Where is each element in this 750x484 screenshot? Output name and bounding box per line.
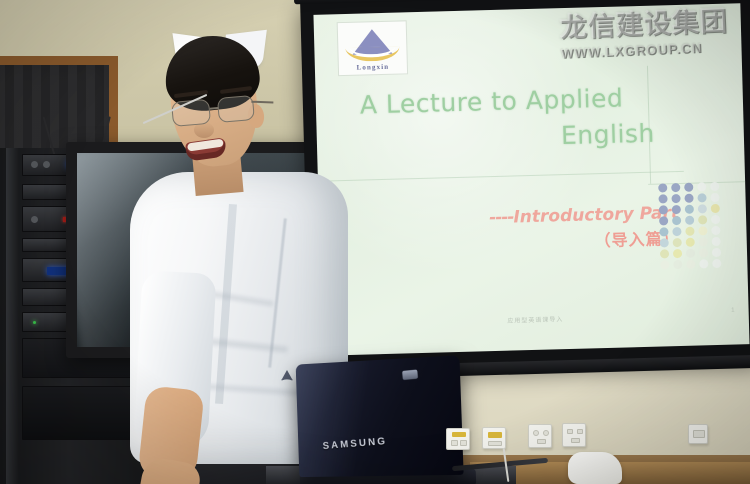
slide-dot: [686, 260, 695, 269]
slide-dot: [659, 216, 668, 225]
tissue-box: [568, 452, 622, 484]
slide-dot: [673, 249, 682, 258]
slide-dot: [658, 183, 667, 192]
slide-dot: [686, 249, 695, 258]
slide-dot: [712, 259, 721, 268]
slide-dot: [673, 238, 682, 247]
slide-dot: [698, 204, 707, 213]
slide-subtitle-line1: Introductory: [513, 204, 634, 227]
laptop-sheen: [296, 355, 420, 477]
slide-dot: [698, 215, 707, 224]
glasses-lens-right: [217, 95, 255, 123]
slide-dot: [710, 193, 719, 202]
photo-scene: Longxin A Lecture to Applied English ---…: [0, 0, 750, 484]
slide-dot: [685, 227, 694, 236]
slide-subtitle-chinese: （导入篇）: [459, 226, 680, 257]
slide-title: A Lecture to Applied English: [359, 79, 661, 159]
wall-plate-1: [446, 428, 470, 450]
slide-dot: [698, 226, 707, 235]
slide-dot: [671, 194, 680, 203]
slide-dot: [659, 205, 668, 214]
slide-dot: [660, 249, 669, 258]
slide-dot: [697, 193, 706, 202]
slide-subtitle-dash: ----: [489, 207, 514, 228]
slide-dot: [711, 204, 720, 213]
slide-dot: [686, 238, 695, 247]
presenter-nose: [194, 122, 214, 138]
laptop-lid: SAMSUNG: [296, 355, 464, 477]
slide-dot: [685, 205, 694, 214]
slide-dot: [712, 237, 721, 246]
slide-dot: [697, 182, 706, 191]
shirt-placket: [215, 204, 237, 404]
glasses-temple: [251, 101, 273, 103]
slide-dot: [711, 226, 720, 235]
slide-dot: [685, 216, 694, 225]
slide-dot: [673, 260, 682, 269]
wall-outlet-1: [528, 424, 552, 448]
slide-dot: [684, 194, 693, 203]
samsung-laptop: SAMSUNG: [294, 360, 460, 484]
slide-page-number: 1: [731, 308, 735, 314]
slide-dot: [671, 183, 680, 192]
slide-title-line1: A Lecture to Applied: [360, 83, 624, 119]
laptop-badge-icon: [402, 369, 418, 380]
rack-post-left: [6, 148, 19, 484]
slide-dot: [684, 183, 693, 192]
slide-dot: [712, 248, 721, 257]
slide-dot: [659, 227, 668, 236]
slide-dot: [660, 238, 669, 247]
slide-dot: [672, 227, 681, 236]
slide-footer-note: 应用型英语课导入: [322, 309, 749, 330]
slide-dot: [699, 237, 708, 246]
slide-dot-grid: [658, 182, 723, 270]
slide-dot: [660, 260, 669, 269]
slide-dot: [672, 205, 681, 214]
slide-dot: [699, 259, 708, 268]
slide-dot: [699, 248, 708, 257]
slide-dot: [711, 215, 720, 224]
wall-plate-2: [482, 427, 506, 449]
slide-title-line2: English: [360, 115, 661, 159]
wall-outlet-2: [562, 423, 586, 447]
slide-dot: [710, 182, 719, 191]
shirt-embroidered-logo-icon: [280, 368, 294, 383]
wall-outlet-3: [688, 424, 708, 444]
slide-dot: [658, 194, 667, 203]
slide-dot: [672, 216, 681, 225]
slide-subtitle: ----Introductory Part （导入篇）: [459, 201, 680, 257]
